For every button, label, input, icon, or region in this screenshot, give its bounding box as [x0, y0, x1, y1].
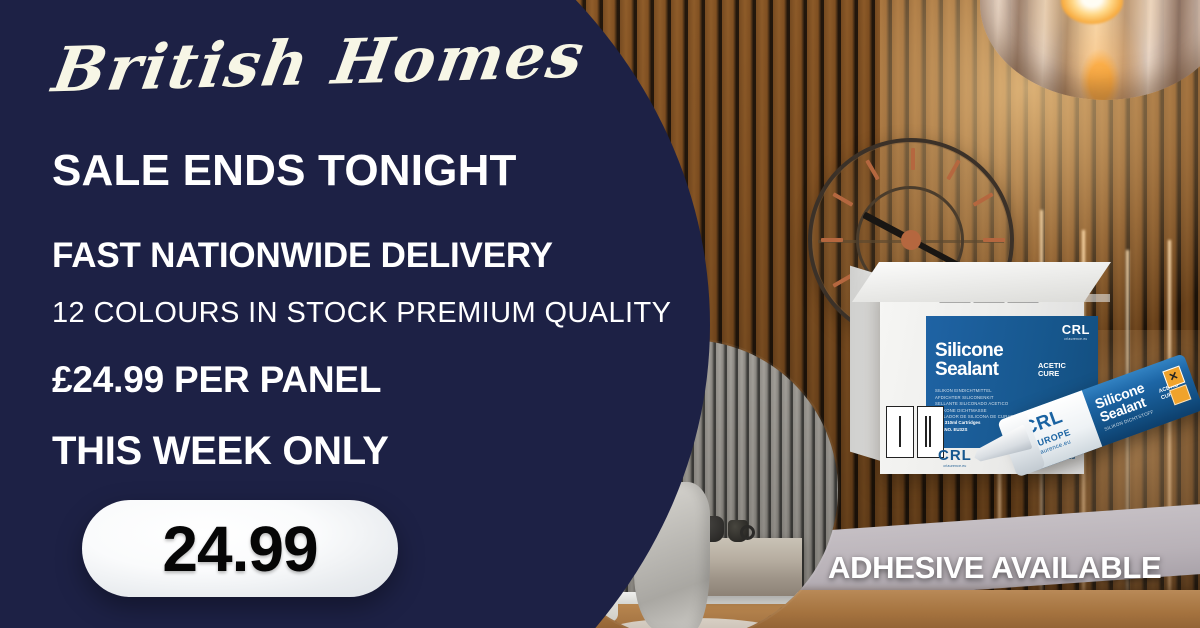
promo-content: British Homes SALE ENDS TONIGHT FAST NAT… — [0, 0, 700, 628]
box-top-face — [852, 262, 1111, 302]
crl-logo-bottom-sub: crlaurence.eu — [938, 464, 972, 468]
clock-numeral — [865, 159, 879, 180]
price-badge[interactable]: 24.99 — [82, 500, 398, 597]
headline-price-per-panel: £24.99 PER PANEL — [52, 359, 381, 401]
umbrella-pictogram — [886, 406, 914, 458]
promo-banner: CRLcrlaurence.eu Silicone Sealant ACETIC… — [0, 0, 1200, 628]
clock-numeral — [946, 159, 960, 180]
caption-adhesive-available: ADHESIVE AVAILABLE — [828, 550, 1161, 586]
box-pictograms — [886, 406, 944, 458]
price-badge-value: 24.99 — [162, 517, 317, 581]
brand-logo: British Homes — [48, 19, 591, 107]
crl-logo: CRLcrlaurence.eu — [1062, 322, 1090, 341]
ceramic-cup-icon — [728, 520, 748, 542]
headline-colours-stock: 12 COLOURS IN STOCK PREMIUM QUALITY — [52, 297, 671, 330]
clock-numeral — [911, 148, 915, 170]
clock-center-cap — [901, 230, 921, 250]
clock-numeral — [821, 238, 843, 242]
box-cure-type: ACETIC CURE — [1038, 362, 1066, 378]
headline-this-week-only: THIS WEEK ONLY — [52, 429, 389, 474]
clock-numeral — [832, 192, 853, 206]
headline-sale-ends: SALE ENDS TONIGHT — [52, 146, 517, 196]
headline-delivery: FAST NATIONWIDE DELIVERY — [52, 236, 553, 276]
box-product-title: Silicone Sealant — [935, 342, 1003, 379]
clock-numeral — [973, 192, 994, 206]
crl-logo-sub: crlaurence.eu — [1062, 337, 1090, 341]
clock-numeral — [983, 238, 1005, 242]
